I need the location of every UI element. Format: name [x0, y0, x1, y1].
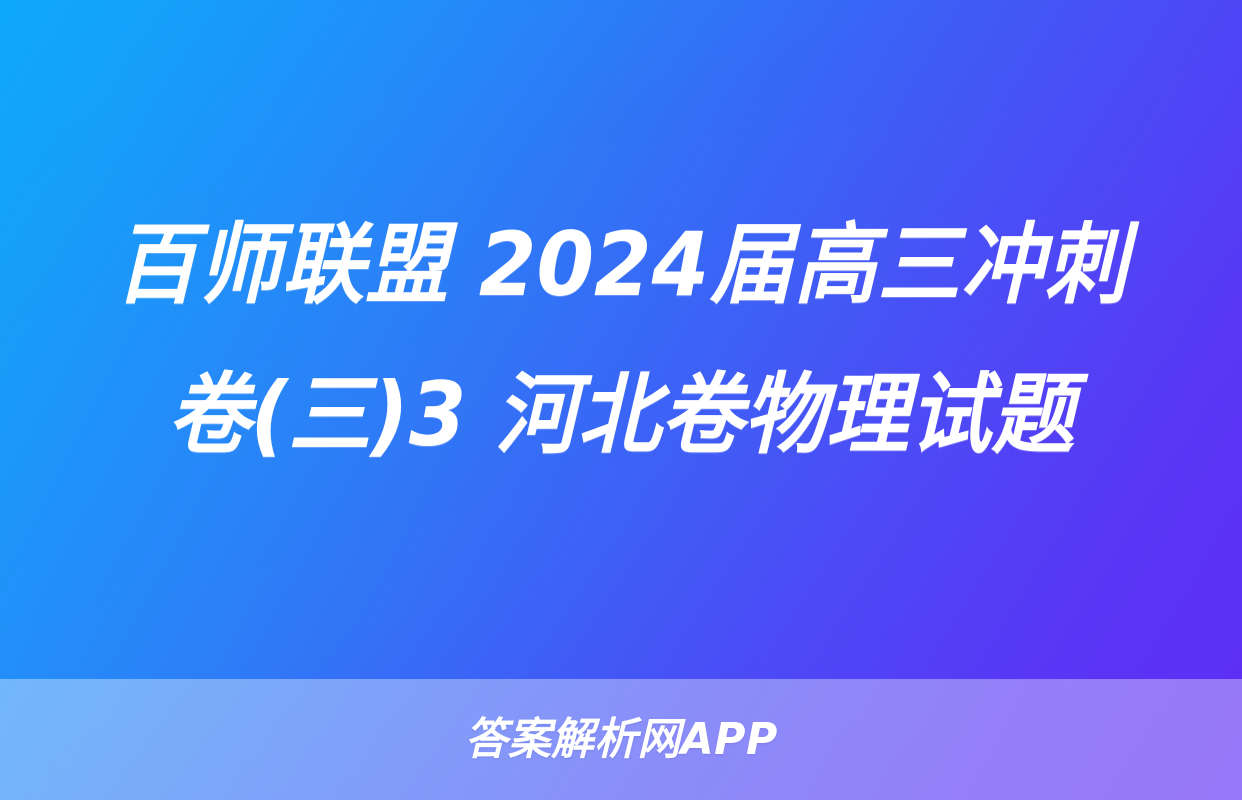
title-area: 百师联盟 2024届高三冲刺卷(三)3 河北卷物理试题	[0, 0, 1242, 679]
page-title: 百师联盟 2024届高三冲刺卷(三)3 河北卷物理试题	[114, 190, 1127, 490]
watermark-band: 答案解析网APP	[0, 679, 1242, 800]
exam-cover-card: 百师联盟 2024届高三冲刺卷(三)3 河北卷物理试题 答案解析网APP	[0, 0, 1242, 800]
app-watermark: 答案解析网APP	[465, 716, 778, 764]
